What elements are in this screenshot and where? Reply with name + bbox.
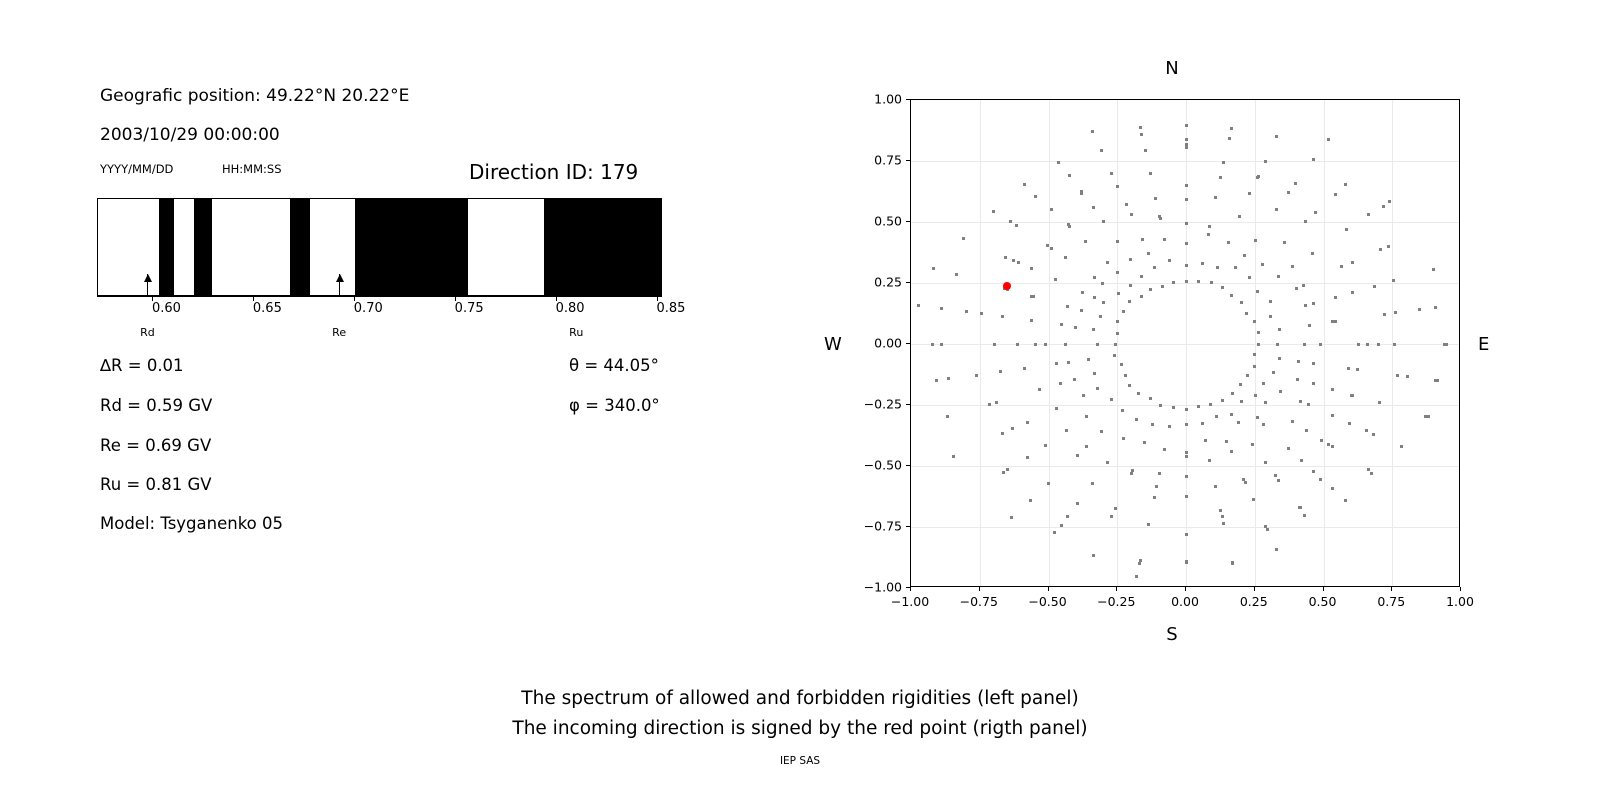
direction-grid-point (1302, 284, 1305, 287)
direction-grid-point (1114, 343, 1117, 346)
direction-grid-point (1264, 461, 1267, 464)
rigidity-marker-arrow (576, 274, 577, 296)
direction-grid-point (1238, 215, 1241, 218)
direction-grid-point (1029, 499, 1032, 502)
compass-east-label: E (1478, 334, 1489, 355)
polar-x-tick-label: 0.75 (1377, 594, 1405, 609)
direction-grid-point (1121, 409, 1124, 412)
polar-y-tick (906, 160, 910, 161)
direction-grid-point (1272, 371, 1275, 374)
direction-grid-point (1030, 295, 1033, 298)
direction-grid-point (1149, 288, 1152, 291)
direction-grid-point (1185, 264, 1188, 267)
direction-grid-point (1110, 172, 1113, 175)
direction-grid-point (947, 377, 950, 380)
direction-grid-point (1163, 238, 1166, 241)
polar-x-tick (1460, 587, 1461, 591)
direction-grid-point (1124, 374, 1127, 377)
polar-plot-axes (910, 99, 1460, 587)
direction-grid-point (1277, 275, 1280, 278)
direction-grid-point (1427, 415, 1430, 418)
polar-x-tick-label: −0.50 (1028, 594, 1066, 609)
direction-grid-point (1406, 375, 1409, 378)
polar-y-tick (906, 526, 910, 527)
direction-grid-point (1372, 433, 1375, 436)
direction-grid-point (1378, 401, 1381, 404)
direction-grid-point (1244, 481, 1247, 484)
direction-grid-point (1143, 441, 1146, 444)
direction-grid-point (1319, 478, 1322, 481)
polar-x-tick (1391, 587, 1392, 591)
direction-grid-point (1388, 200, 1391, 203)
param-phi: φ = 340.0° (569, 396, 660, 415)
direction-grid-point (1294, 182, 1297, 185)
polar-y-tick-label: 0.00 (852, 336, 902, 351)
direction-grid-point (1085, 445, 1088, 448)
direction-grid-point (1120, 363, 1123, 366)
direction-grid-point (1113, 354, 1116, 357)
direction-grid-point (1010, 516, 1013, 519)
direction-grid-point (988, 403, 991, 406)
direction-grid-point (1147, 523, 1150, 526)
direction-grid-point (1394, 311, 1397, 314)
direction-grid-point (1351, 291, 1354, 294)
polar-y-tick (906, 343, 910, 344)
direction-grid-point (1237, 421, 1240, 424)
direction-grid-point (1102, 301, 1105, 304)
direction-grid-point (1248, 276, 1251, 279)
direction-grid-point (980, 312, 983, 315)
direction-grid-point (1436, 379, 1439, 382)
direction-grid-point (1278, 357, 1281, 360)
incoming-direction-point[interactable] (1003, 282, 1011, 290)
direction-grid-point (1256, 416, 1259, 419)
axis-tick-label: 0.65 (253, 301, 282, 316)
direction-grid-point (1345, 228, 1348, 231)
direction-grid-point (1208, 225, 1211, 228)
polar-x-tick-label: −1.00 (891, 594, 929, 609)
direction-grid-point (1231, 561, 1234, 564)
direction-grid-point (1044, 343, 1047, 346)
direction-grid-point (1140, 295, 1143, 298)
direction-grid-point (1327, 443, 1330, 446)
direction-grid-point (1246, 374, 1249, 377)
direction-grid-point (1116, 185, 1119, 188)
param-ru: Ru = 0.81 GV (100, 475, 212, 494)
direction-grid-point (1128, 384, 1131, 387)
direction-grid-point (1161, 285, 1164, 288)
direction-grid-point (1295, 287, 1298, 290)
direction-grid-point (1158, 472, 1161, 475)
direction-grid-point (1154, 197, 1157, 200)
direction-grid-point (1046, 244, 1049, 247)
direction-grid-point (1080, 192, 1083, 195)
param-theta: θ = 44.05° (569, 356, 659, 375)
direction-grid-point (940, 343, 943, 346)
direction-grid-point (1100, 149, 1103, 152)
direction-grid-point (1060, 524, 1063, 527)
direction-grid-point (1215, 415, 1218, 418)
direction-grid-point (1264, 401, 1267, 404)
direction-grid-point (1060, 323, 1063, 326)
direction-grid-point (1001, 432, 1004, 435)
direction-grid-point (1082, 394, 1085, 397)
direction-grid-point (1085, 415, 1088, 418)
direction-grid-point (1222, 522, 1225, 525)
direction-grid-point (1185, 495, 1188, 498)
direction-grid-point (1185, 451, 1188, 454)
direction-grid-point (1130, 213, 1133, 216)
direction-grid-point (1351, 394, 1354, 397)
geographic-position-text: Geografic position: 49.22°N 20.22°E (100, 86, 409, 106)
direction-grid-point (1396, 374, 1399, 377)
direction-grid-point (1254, 239, 1257, 242)
forbidden-band (194, 199, 212, 295)
direction-grid-point (1185, 533, 1188, 536)
direction-grid-point (1311, 252, 1314, 255)
direction-grid-point (1139, 126, 1142, 129)
direction-grid-point (1351, 261, 1354, 264)
polar-x-tick-label: 0.00 (1171, 594, 1199, 609)
direction-grid-point (1066, 515, 1069, 518)
polar-y-tick-label: −0.75 (852, 519, 902, 534)
direction-grid-point (1129, 258, 1132, 261)
direction-grid-point (1279, 390, 1282, 393)
direction-grid-point (1163, 448, 1166, 451)
direction-grid-point (1231, 392, 1234, 395)
direction-grid-point (1106, 461, 1109, 464)
axis-tick-label: 0.60 (152, 301, 181, 316)
compass-south-label: S (1166, 624, 1177, 645)
compass-west-label: W (824, 334, 842, 355)
direction-grid-point (1110, 515, 1113, 518)
direction-grid-point (1299, 506, 1302, 509)
direction-grid-point (1149, 397, 1152, 400)
direction-grid-point (952, 455, 955, 458)
direction-grid-point (1377, 343, 1380, 346)
direction-grid-point (1366, 343, 1369, 346)
param-delta-r: ∆R = 0.01 (100, 356, 184, 375)
direction-grid-point (1214, 196, 1217, 199)
direction-grid-point (1370, 472, 1373, 475)
gridline-horizontal (911, 283, 1459, 284)
direction-grid-point (999, 370, 1002, 373)
direction-grid-point (1153, 496, 1156, 499)
direction-grid-point (1356, 368, 1359, 371)
polar-y-tick (906, 99, 910, 100)
direction-grid-point (1055, 362, 1058, 365)
param-model: Model: Tsyganenko 05 (100, 514, 283, 533)
polar-y-tick-label: −0.50 (852, 458, 902, 473)
polar-x-tick (1185, 587, 1186, 591)
direction-grid-point (1053, 531, 1056, 534)
direction-grid-point (1087, 358, 1090, 361)
polar-x-tick (910, 587, 911, 591)
direction-grid-point (1144, 149, 1147, 152)
polar-y-tick (906, 587, 910, 588)
rigidity-marker-label: Ru (569, 326, 583, 339)
direction-grid-point (1230, 294, 1233, 297)
direction-grid-point (1185, 124, 1188, 127)
direction-grid-point (1264, 160, 1267, 163)
direction-grid-point (1297, 360, 1300, 363)
direction-grid-point (1093, 296, 1096, 299)
direction-grid-point (1314, 211, 1317, 214)
direction-grid-point (1006, 468, 1009, 471)
direction-grid-point (1185, 184, 1188, 187)
direction-grid-point (1344, 183, 1347, 186)
direction-grid-point (993, 343, 996, 346)
direction-grid-point (1185, 280, 1188, 283)
direction-grid-point (1245, 312, 1248, 315)
direction-grid-point (1379, 248, 1382, 251)
direction-grid-point (995, 401, 998, 404)
direction-grid-point (1091, 130, 1094, 133)
direction-grid-point (931, 343, 934, 346)
direction-grid-point (1331, 487, 1334, 490)
forbidden-band (290, 199, 310, 295)
direction-grid-point (1227, 241, 1230, 244)
direction-grid-point (1001, 315, 1004, 318)
direction-grid-point (1102, 220, 1105, 223)
direction-grid-point (1305, 429, 1308, 432)
direction-grid-point (1026, 421, 1029, 424)
direction-grid-point (1096, 343, 1099, 346)
direction-grid-point (1304, 304, 1307, 307)
direction-grid-point (1251, 443, 1254, 446)
polar-x-tick-label: 1.00 (1446, 594, 1474, 609)
direction-grid-point (1254, 394, 1257, 397)
direction-grid-point (1002, 471, 1005, 474)
direction-grid-point (1296, 378, 1299, 381)
direction-grid-point (932, 267, 935, 270)
direction-grid-point (1168, 259, 1171, 262)
direction-grid-point (1185, 455, 1188, 458)
direction-grid-point (1262, 423, 1265, 426)
direction-grid-point (1331, 445, 1334, 448)
direction-grid-point (1239, 383, 1242, 386)
axis-tick-label: 0.75 (455, 301, 484, 316)
direction-grid-point (1099, 315, 1102, 318)
direction-grid-point (1197, 405, 1200, 408)
direction-grid-point (1393, 343, 1396, 346)
param-re: Re = 0.69 GV (100, 436, 211, 455)
rigidity-marker-arrow (339, 274, 340, 296)
direction-grid-point (1216, 266, 1219, 269)
direction-grid-point (1367, 213, 1370, 216)
direction-grid-point (1068, 174, 1071, 177)
direction-grid-point (1261, 263, 1264, 266)
direction-grid-point (1185, 475, 1188, 478)
rigidity-marker-arrow (147, 274, 148, 296)
direction-grid-point (1185, 242, 1188, 245)
polar-x-tick (1116, 587, 1117, 591)
direction-grid-point (1208, 459, 1211, 462)
direction-grid-point (1392, 279, 1395, 282)
direction-grid-point (1092, 328, 1095, 331)
direction-grid-point (1304, 220, 1307, 223)
direction-grid-point (1093, 372, 1096, 375)
direction-grid-point (1023, 367, 1026, 370)
direction-grid-point (1185, 560, 1188, 563)
direction-grid-point (1185, 222, 1188, 225)
direction-grid-point (1387, 245, 1390, 248)
direction-grid-point (1159, 404, 1162, 407)
direction-grid-point (1030, 319, 1033, 322)
direction-grid-point (1266, 528, 1269, 531)
axis-tick-label: 0.80 (556, 301, 585, 316)
direction-grid-point (992, 210, 995, 213)
direction-grid-point (1434, 306, 1437, 309)
direction-grid-point (1141, 238, 1144, 241)
direction-grid-point (1287, 191, 1290, 194)
direction-grid-point (1365, 429, 1368, 432)
direction-grid-point (1149, 172, 1152, 175)
direction-grid-point (1275, 548, 1278, 551)
direction-grid-point (1348, 422, 1351, 425)
direction-grid-point (1158, 215, 1161, 218)
direction-grid-point (1320, 439, 1323, 442)
direction-grid-point (1138, 562, 1141, 565)
direction-grid-point (1207, 233, 1210, 236)
direction-grid-point (1034, 343, 1037, 346)
direction-grid-point (1331, 388, 1334, 391)
direction-grid-point (1116, 240, 1119, 243)
direction-grid-point (1312, 470, 1315, 473)
direction-grid-point (1230, 450, 1233, 453)
direction-grid-point (1185, 423, 1188, 426)
direction-grid-point (1137, 392, 1140, 395)
direction-grid-point (1269, 315, 1272, 318)
direction-grid-point (1228, 137, 1231, 140)
polar-x-tick-label: −0.25 (1097, 594, 1135, 609)
direction-grid-point (1185, 198, 1188, 201)
polar-x-tick-label: 0.25 (1240, 594, 1268, 609)
polar-y-tick-label: 0.25 (852, 275, 902, 290)
direction-grid-point (1185, 146, 1188, 149)
gridline-vertical (1117, 100, 1118, 586)
direction-grid-point (955, 273, 958, 276)
direction-grid-point (1114, 507, 1117, 510)
direction-grid-point (946, 415, 949, 418)
spectrum-x-axis: 0.600.650.700.750.800.85RdReRu (97, 296, 662, 356)
direction-grid-point (1101, 282, 1104, 285)
direction-grid-point (1257, 343, 1260, 346)
direction-grid-point (1262, 382, 1265, 385)
direction-grid-point (1135, 575, 1138, 578)
direction-grid-point (1299, 400, 1302, 403)
direction-grid-point (1334, 296, 1337, 299)
direction-grid-point (1303, 343, 1306, 346)
direction-grid-point (1068, 225, 1071, 228)
direction-grid-point (1050, 208, 1053, 211)
direction-grid-point (940, 307, 943, 310)
direction-grid-point (1074, 326, 1077, 329)
direction-grid-point (1116, 271, 1119, 274)
direction-grid-point (1168, 425, 1171, 428)
direction-grid-point (1253, 320, 1256, 323)
direction-grid-point (1276, 343, 1279, 346)
direction-grid-point (1210, 281, 1213, 284)
forbidden-band (159, 199, 174, 295)
direction-grid-point (1221, 286, 1224, 289)
direction-grid-point (1066, 305, 1069, 308)
gridline-vertical (1324, 100, 1325, 586)
direction-grid-point (1219, 509, 1222, 512)
polar-x-tick (1254, 587, 1255, 591)
gridline-vertical (980, 100, 981, 586)
direction-grid-point (935, 379, 938, 382)
direction-grid-point (1172, 406, 1175, 409)
gridline-vertical (1049, 100, 1050, 586)
direction-grid-point (1357, 343, 1360, 346)
polar-y-tick (906, 282, 910, 283)
direction-grid-point (1274, 474, 1277, 477)
direction-grid-point (1129, 284, 1132, 287)
direction-grid-point (1240, 400, 1243, 403)
direction-grid-point (1017, 261, 1020, 264)
direction-grid-point (1219, 176, 1222, 179)
direction-grid-point (1243, 254, 1246, 257)
polar-x-tick (1323, 587, 1324, 591)
direction-grid-point (1055, 407, 1058, 410)
date-format-hint: YYYY/MM/DD (100, 162, 173, 176)
direction-grid-point (1303, 514, 1306, 517)
direction-grid-point (1278, 328, 1281, 331)
direction-grid-point (1277, 479, 1280, 482)
direction-grid-point (1092, 554, 1095, 557)
direction-grid-point (1011, 427, 1014, 430)
caption-line-1: The spectrum of allowed and forbidden ri… (0, 688, 1600, 709)
direction-grid-point (1269, 300, 1272, 303)
direction-grid-point (1151, 423, 1154, 426)
direction-grid-point (1023, 183, 1026, 186)
gridline-horizontal (911, 527, 1459, 528)
polar-x-tick-label: −0.75 (960, 594, 998, 609)
direction-grid-point (1222, 161, 1225, 164)
polar-y-tick (906, 404, 910, 405)
direction-grid-point (1252, 498, 1255, 501)
direction-grid-point (1122, 310, 1125, 313)
direction-grid-point (1091, 482, 1094, 485)
compass-north-label: N (1165, 58, 1178, 79)
direction-grid-point (1373, 285, 1376, 288)
direction-grid-point (1331, 414, 1334, 417)
caption-line-2: The incoming direction is signed by the … (0, 718, 1600, 739)
direction-grid-point (1076, 502, 1079, 505)
direction-grid-point (1257, 331, 1260, 334)
direction-grid-point (1155, 485, 1158, 488)
gridline-horizontal (911, 466, 1459, 467)
direction-grid-point (1064, 256, 1067, 259)
forbidden-band (544, 199, 662, 295)
direction-grid-point (1334, 193, 1337, 196)
direction-grid-point (975, 374, 978, 377)
direction-grid-point (1209, 403, 1212, 406)
direction-grid-point (1257, 175, 1260, 178)
direction-grid-point (1253, 365, 1256, 368)
polar-y-tick-label: 0.75 (852, 153, 902, 168)
direction-grid-point (1050, 247, 1053, 250)
direction-grid-point (1382, 205, 1385, 208)
direction-grid-point (1084, 240, 1087, 243)
polar-y-tick-label: 0.50 (852, 214, 902, 229)
direction-grid-point (1172, 281, 1175, 284)
direction-grid-point (1015, 224, 1018, 227)
direction-grid-point (1347, 367, 1350, 370)
polar-y-tick-label: −0.25 (852, 397, 902, 412)
direction-grid-point (1116, 332, 1119, 335)
